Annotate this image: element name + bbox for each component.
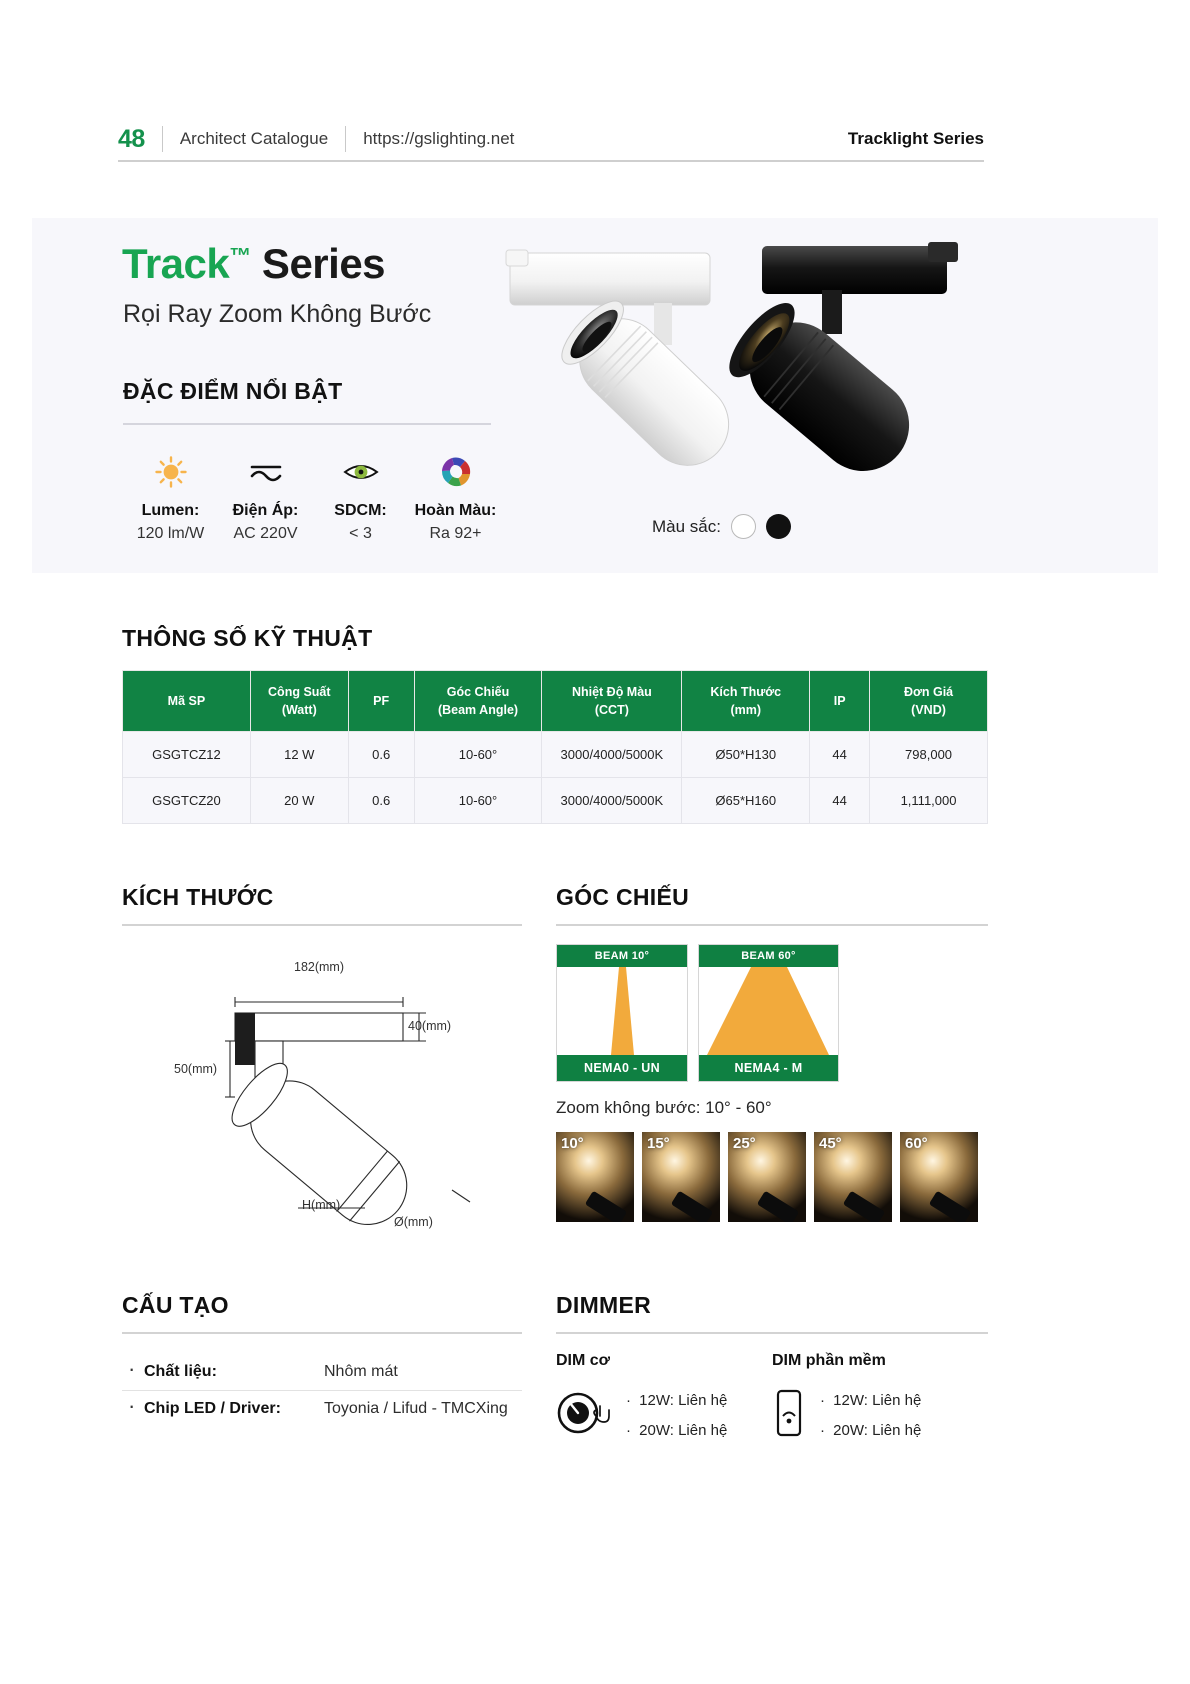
dimensions-drawing: 182(mm) 40(mm) 50(mm) H(mm) Ø(mm) bbox=[122, 940, 522, 1270]
dimmer-values: · 12W: Liên hệ · 20W: Liên hệ bbox=[626, 1386, 727, 1446]
black-swatch[interactable] bbox=[766, 514, 791, 539]
features-rule bbox=[123, 423, 491, 425]
dimmer-heading: DIM phần mềm bbox=[772, 1352, 988, 1370]
cell-cct: 3000/4000/5000K bbox=[542, 732, 682, 778]
dimension-width-label: 182(mm) bbox=[294, 960, 344, 974]
angle-label: 60° bbox=[905, 1135, 928, 1152]
bullet-icon: · bbox=[626, 1422, 631, 1439]
dimmer-mechanical: DIM cơ · 12W: Liê bbox=[556, 1352, 772, 1446]
structure-title: CẤU TẠO bbox=[122, 1292, 522, 1319]
fixture-silhouette-icon bbox=[843, 1190, 885, 1221]
beam-box-60: BEAM 60° NEMA4 - M bbox=[698, 944, 839, 1082]
page-number: 48 bbox=[118, 125, 145, 154]
trademark-symbol: ™ bbox=[229, 243, 251, 268]
cell-price: 798,000 bbox=[870, 732, 988, 778]
dimmer-software: DIM phần mềm · 12W: Liên hệ bbox=[772, 1352, 988, 1446]
structure-key: Chip LED / Driver: bbox=[144, 1400, 324, 1418]
beam-footer: NEMA0 - UN bbox=[557, 1055, 687, 1081]
cell-price: 1,111,000 bbox=[870, 778, 988, 824]
phone-dimmer-icon bbox=[772, 1388, 806, 1443]
product-title-rest: Series bbox=[251, 240, 385, 287]
beam-diagrams: BEAM 10° NEMA0 - UN BEAM 60° NEMA4 - M bbox=[556, 944, 988, 1082]
dimensions-section: KÍCH THƯỚC bbox=[122, 884, 522, 1270]
angle-label: 15° bbox=[647, 1135, 670, 1152]
angle-sample-strip: 10° 15° 25° 45° 60° bbox=[556, 1132, 988, 1222]
dimmer-power-value: Liên hệ bbox=[678, 1422, 727, 1439]
bullet-icon: · bbox=[626, 1392, 631, 1409]
feature-voltage: Điện Áp: AC 220V bbox=[218, 446, 313, 543]
website-url[interactable]: https://gslighting.net bbox=[363, 129, 514, 149]
ac-voltage-icon bbox=[218, 446, 313, 498]
column-header-ip: IP bbox=[810, 671, 870, 732]
beam-box-10: BEAM 10° NEMA0 - UN bbox=[556, 944, 688, 1082]
angle-sample-10: 10° bbox=[556, 1132, 634, 1222]
fixture-silhouette-icon bbox=[671, 1190, 713, 1221]
cell-code: GSGTCZ20 bbox=[123, 778, 251, 824]
specifications-title: THÔNG SỐ KỸ THUẬT bbox=[122, 625, 988, 652]
angle-sample-15: 15° bbox=[642, 1132, 720, 1222]
column-header-pf: PF bbox=[348, 671, 414, 732]
product-title: Track™ Series bbox=[122, 240, 385, 288]
structure-value: Toyonia / Lifud - TMCXing bbox=[324, 1400, 508, 1418]
product-title-brand: Track bbox=[122, 240, 229, 287]
cell-cct: 3000/4000/5000K bbox=[542, 778, 682, 824]
hero-banner: Track™ Series Rọi Ray Zoom Không Bước ĐẶ… bbox=[32, 218, 1158, 573]
white-swatch[interactable] bbox=[731, 514, 756, 539]
column-header-price: Đơn Giá (VND) bbox=[870, 671, 988, 732]
dimension-body-height-label: H(mm) bbox=[302, 1198, 340, 1212]
cell-power: 12 W bbox=[250, 732, 348, 778]
column-header-power: Công Suất (Watt) bbox=[250, 671, 348, 732]
column-header-cct: Nhiệt Độ Màu (CCT) bbox=[542, 671, 682, 732]
angle-label: 10° bbox=[561, 1135, 584, 1152]
cell-ip: 44 bbox=[810, 732, 870, 778]
cell-power: 20 W bbox=[250, 778, 348, 824]
color-options: Màu sắc: bbox=[652, 514, 791, 539]
feature-label: Điện Áp: bbox=[218, 502, 313, 520]
header-divider-2 bbox=[345, 126, 346, 152]
dimmer-title: DIMMER bbox=[556, 1292, 988, 1319]
fixture-silhouette-icon bbox=[585, 1190, 627, 1221]
feature-label: SDCM: bbox=[313, 502, 408, 520]
fixture-silhouette-icon bbox=[929, 1190, 971, 1221]
dimension-depth-label: 40(mm) bbox=[408, 1019, 451, 1033]
dimmer-rule bbox=[556, 1332, 988, 1334]
dimensions-rule bbox=[122, 924, 522, 926]
specifications-section: THÔNG SỐ KỸ THUẬT Mã SP Công Suất (Watt)… bbox=[122, 625, 988, 824]
header-divider bbox=[162, 126, 163, 152]
angle-sample-25: 25° bbox=[728, 1132, 806, 1222]
structure-list: Chất liệu: Nhôm mát Chip LED / Driver: T… bbox=[122, 1354, 522, 1427]
dimension-diameter-label: Ø(mm) bbox=[394, 1215, 433, 1229]
dimmer-power-label: 12W: bbox=[639, 1392, 674, 1409]
feature-value: AC 220V bbox=[218, 525, 313, 543]
catalogue-label: Architect Catalogue bbox=[180, 129, 328, 149]
feature-value: < 3 bbox=[313, 525, 408, 543]
dimmer-section: DIMMER DIM cơ · bbox=[556, 1292, 988, 1446]
dimmer-power-label: 20W: bbox=[833, 1422, 868, 1439]
dimmer-power-label: 20W: bbox=[639, 1422, 674, 1439]
structure-rule bbox=[122, 1332, 522, 1334]
product-subtitle: Rọi Ray Zoom Không Bước bbox=[123, 300, 431, 329]
angle-sample-45: 45° bbox=[814, 1132, 892, 1222]
bullet-icon: · bbox=[820, 1392, 825, 1409]
angle-label: 25° bbox=[733, 1135, 756, 1152]
beam-angle-section: GÓC CHIẾU BEAM 10° NEMA0 - UN BEAM 60° bbox=[556, 884, 988, 1222]
feature-sdcm: SDCM: < 3 bbox=[313, 446, 408, 543]
table-row: GSGTCZ20 20 W 0.6 10-60° 3000/4000/5000K… bbox=[123, 778, 988, 824]
feature-lumen: Lumen: 120 lm/W bbox=[123, 446, 218, 543]
catalogue-page: 48 Architect Catalogue https://gslightin… bbox=[0, 0, 1190, 1684]
dimmer-values: · 12W: Liên hệ · 20W: Liên hệ bbox=[820, 1386, 921, 1446]
dimmer-power-value: Liên hệ bbox=[872, 1422, 921, 1439]
specifications-table: Mã SP Công Suất (Watt) PF Góc Chiếu (Bea… bbox=[122, 670, 988, 824]
structure-key: Chất liệu: bbox=[144, 1363, 324, 1381]
dimmer-power-value: Liên hệ bbox=[678, 1392, 727, 1409]
cell-size: Ø65*H160 bbox=[682, 778, 810, 824]
angle-label: 45° bbox=[819, 1135, 842, 1152]
eye-icon bbox=[313, 446, 408, 498]
structure-value: Nhôm mát bbox=[324, 1363, 398, 1381]
cell-beam-angle: 10-60° bbox=[414, 778, 542, 824]
sun-icon bbox=[123, 446, 218, 498]
fixture-silhouette-icon bbox=[757, 1190, 799, 1221]
beam-footer: NEMA4 - M bbox=[699, 1055, 838, 1081]
column-header-size: Kích Thước (mm) bbox=[682, 671, 810, 732]
color-label: Màu sắc: bbox=[652, 517, 721, 537]
dimmer-columns: DIM cơ · 12W: Liê bbox=[556, 1352, 988, 1446]
header-rule bbox=[118, 160, 984, 162]
product-photo bbox=[462, 228, 1022, 558]
feature-value: 120 lm/W bbox=[123, 525, 218, 543]
beam-cone-10 bbox=[557, 967, 687, 1055]
beam-caption: BEAM 10° bbox=[557, 945, 687, 967]
structure-section: CẤU TẠO Chất liệu: Nhôm mát Chip LED / D… bbox=[122, 1292, 522, 1427]
beam-caption: BEAM 60° bbox=[699, 945, 838, 967]
cell-pf: 0.6 bbox=[348, 778, 414, 824]
beam-angle-rule bbox=[556, 924, 988, 926]
dimmer-power-value: Liên hệ bbox=[872, 1392, 921, 1409]
column-header-beam-angle: Góc Chiếu (Beam Angle) bbox=[414, 671, 542, 732]
feature-label: Lumen: bbox=[123, 502, 218, 520]
list-item: Chip LED / Driver: Toyonia / Lifud - TMC… bbox=[122, 1391, 522, 1427]
page-header: 48 Architect Catalogue https://gslightin… bbox=[118, 116, 984, 162]
knob-dimmer-icon bbox=[556, 1390, 612, 1441]
bullet-icon: · bbox=[820, 1422, 825, 1439]
cell-ip: 44 bbox=[810, 778, 870, 824]
beam-cone-60 bbox=[699, 967, 838, 1055]
features-heading: ĐẶC ĐIỂM NỔI BẬT bbox=[123, 378, 342, 405]
dimmer-heading: DIM cơ bbox=[556, 1352, 772, 1370]
column-header-code: Mã SP bbox=[123, 671, 251, 732]
beam-angle-title: GÓC CHIẾU bbox=[556, 884, 988, 911]
cell-pf: 0.6 bbox=[348, 732, 414, 778]
cell-code: GSGTCZ12 bbox=[123, 732, 251, 778]
dimension-height-label: 50(mm) bbox=[174, 1062, 217, 1076]
cell-beam-angle: 10-60° bbox=[414, 732, 542, 778]
zoom-range-note: Zoom không bước: 10° - 60° bbox=[556, 1098, 988, 1118]
table-row: GSGTCZ12 12 W 0.6 10-60° 3000/4000/5000K… bbox=[123, 732, 988, 778]
series-label: Tracklight Series bbox=[848, 129, 984, 149]
table-header-row: Mã SP Công Suất (Watt) PF Góc Chiếu (Bea… bbox=[123, 671, 988, 732]
dimmer-power-label: 12W: bbox=[833, 1392, 868, 1409]
cell-size: Ø50*H130 bbox=[682, 732, 810, 778]
angle-sample-60: 60° bbox=[900, 1132, 978, 1222]
dimensions-title: KÍCH THƯỚC bbox=[122, 884, 522, 911]
list-item: Chất liệu: Nhôm mát bbox=[122, 1354, 522, 1390]
